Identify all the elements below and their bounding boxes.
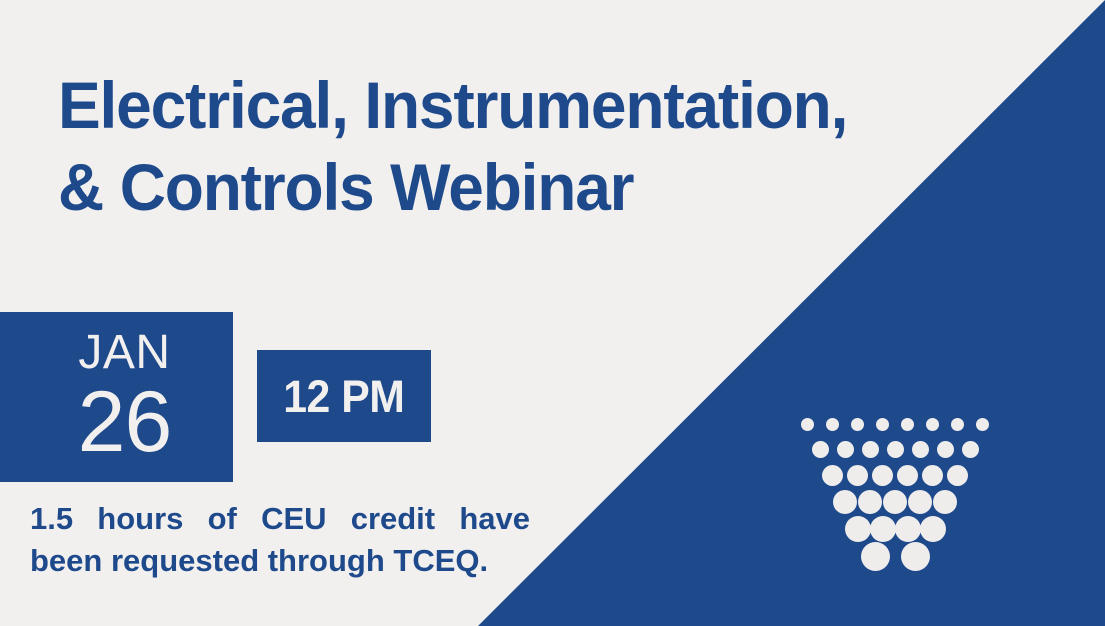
dot [837, 441, 854, 458]
dot [922, 465, 943, 486]
time-badge-label: 12 PM [283, 374, 404, 419]
time-badge: 12 PM [257, 350, 431, 442]
date-badge-day: 26 [78, 380, 172, 464]
dot [851, 418, 864, 431]
dot [870, 516, 896, 542]
dot [826, 418, 839, 431]
dot [937, 441, 954, 458]
dot [847, 465, 868, 486]
dot-row [745, 465, 1045, 486]
page-title: Electrical, Instrumentation, & Controls … [58, 64, 998, 228]
dot [901, 542, 930, 571]
dot-row [745, 542, 1045, 571]
title-line-2: & Controls Webinar [58, 146, 970, 228]
dot [920, 516, 946, 542]
ceu-note-word: credit [351, 498, 435, 540]
date-badge: JAN 26 [0, 312, 233, 482]
dot [962, 441, 979, 458]
dot [812, 441, 829, 458]
dot [901, 418, 914, 431]
dot-row [745, 490, 1045, 514]
title-line-1: Electrical, Instrumentation, [58, 64, 970, 146]
inverted-triangle-dot-pattern [745, 408, 1045, 578]
webinar-promo-banner: Electrical, Instrumentation, & Controls … [0, 0, 1105, 626]
dot [947, 465, 968, 486]
dot [883, 490, 907, 514]
dot [926, 418, 939, 431]
dot [912, 441, 929, 458]
ceu-note-line-1: 1.5hoursofCEUcredithave [30, 498, 530, 540]
dot [833, 490, 857, 514]
dot [976, 418, 989, 431]
dot [801, 418, 814, 431]
date-badge-month: JAN [78, 330, 170, 376]
dot [822, 465, 843, 486]
ceu-credit-note: 1.5hoursofCEUcredithave been requested t… [30, 498, 550, 582]
dot [933, 490, 957, 514]
dot [862, 441, 879, 458]
ceu-note-word: CEU [261, 498, 326, 540]
ceu-note-word: of [208, 498, 237, 540]
dot [887, 441, 904, 458]
dot [858, 490, 882, 514]
dot-row [745, 516, 1045, 542]
ceu-note-line-2: been requested through TCEQ. [30, 540, 550, 582]
dot [845, 516, 871, 542]
ceu-note-word: hours [97, 498, 183, 540]
dot [908, 490, 932, 514]
dot [895, 516, 921, 542]
dot [897, 465, 918, 486]
dot [951, 418, 964, 431]
ceu-note-word: 1.5 [30, 498, 73, 540]
dot [872, 465, 893, 486]
ceu-note-word: have [459, 498, 530, 540]
dot [876, 418, 889, 431]
dot-row [745, 418, 1045, 431]
dot-row [745, 441, 1045, 458]
dot [861, 542, 890, 571]
